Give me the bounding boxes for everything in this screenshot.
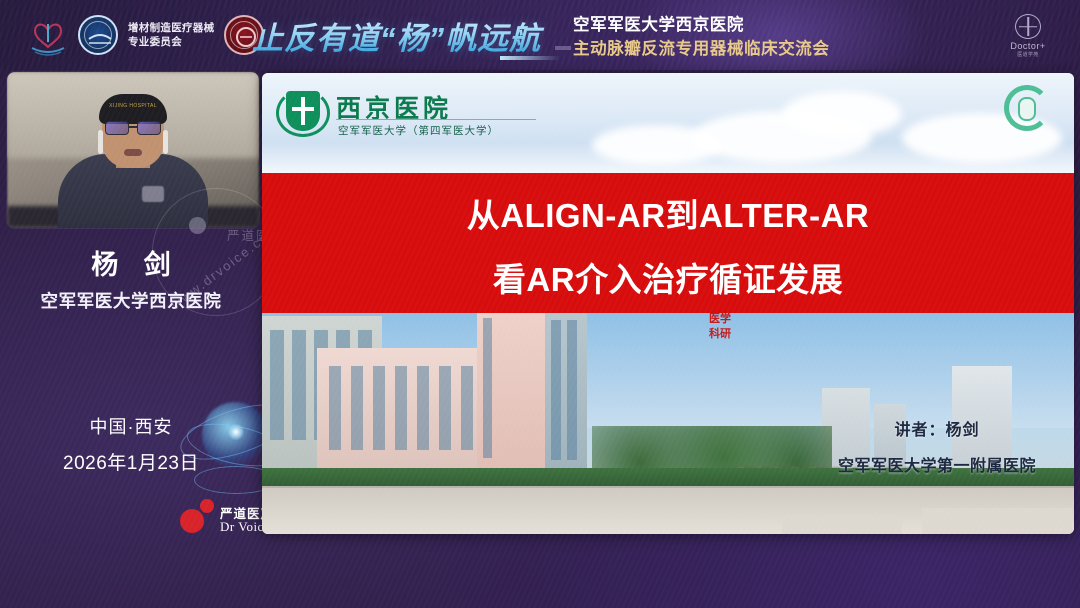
slogan-highlight: 杨 <box>397 21 429 56</box>
slide-credit-org: 空军军医大学第一附属医院 <box>838 452 1036 476</box>
committee-name-line1: 增材制造医疗器械 <box>128 21 214 35</box>
doctor-logo-sub: 医道学苑 <box>1017 51 1039 58</box>
slogan-prefix: 止反有道 <box>252 21 380 56</box>
cap-text: XIJING HOSPITAL <box>109 103 157 109</box>
heart-logo-icon <box>28 14 68 56</box>
campus-photo: 医学科研 讲者：杨剑 空军军医大学第一附属医院 <box>262 313 1074 534</box>
speaker-video-tile[interactable]: XIJING HOSPITAL <box>7 72 259 228</box>
doctor-plus-logo: Doctor+ 医道学苑 <box>1000 14 1056 58</box>
building-tower: 医学科研 <box>477 313 547 476</box>
event-title-line1: 空军军医大学西京医院 <box>573 14 830 38</box>
title-dash <box>555 46 571 50</box>
hospital-subtitle: 空军军医大学（第四军医大学） <box>338 123 499 138</box>
organizer-logos: 增材制造医疗器械 专业委员会 <box>28 13 264 57</box>
slide-title-line2: 看AR介入治疗循证发展 <box>262 253 1074 301</box>
speaker-name: 杨 剑 <box>0 243 262 282</box>
hospital-name-rule <box>336 119 536 120</box>
building-2 <box>317 348 487 476</box>
slogan-suffix: 帆远航 <box>445 21 541 56</box>
drvoice-logo: 严道医声 Dr Voice <box>176 495 272 537</box>
committee-name-line2: 专业委员会 <box>128 35 214 49</box>
green-signal-icon <box>1004 85 1050 131</box>
globe-icon <box>1015 14 1041 39</box>
slide-credit: 讲者：杨剑 空军军医大学第一附属医院 <box>838 416 1036 476</box>
event-title: 空军军医大学西京医院 主动脉瓣反流专用器械临床交流会 <box>573 14 830 62</box>
committee-name: 增材制造医疗器械 专业委员会 <box>128 21 214 49</box>
surgical-cap: XIJING HOSPITAL <box>99 94 167 124</box>
event-location: 中国·西安 <box>0 413 262 439</box>
drvoice-dot-small <box>200 499 214 513</box>
committee-seal-icon <box>78 15 118 55</box>
event-date: 2026年1月23日 <box>0 448 262 475</box>
hospital-emblem-icon <box>276 85 330 143</box>
slogan-quote-close: ” <box>429 21 446 56</box>
slide-credit-speaker: 讲者：杨剑 <box>838 416 1036 440</box>
drvoice-dot-large <box>180 509 204 533</box>
presentation-slide[interactable]: 西京医院 空军军医大学（第四军医大学） 从ALIGN-AR到ALTER-AR 看… <box>262 73 1074 534</box>
doctor-logo-name: Doctor+ <box>1010 41 1045 51</box>
slogan-underline <box>500 56 560 60</box>
speaker-figure: XIJING HOSPITAL <box>58 100 208 228</box>
speaker-badge <box>142 186 164 202</box>
photo-plaza <box>262 488 1074 534</box>
tower-text: 医学科研 <box>709 313 731 342</box>
building-4 <box>545 313 587 476</box>
slogan-quote-open: “ <box>380 21 397 56</box>
slide-title-band: 从ALIGN-AR到ALTER-AR 看AR介入治疗循证发展 <box>262 173 1074 313</box>
event-banner: 增材制造医疗器械 专业委员会 止反有道“杨”帆远航 空军军医大学西京医院 主动脉… <box>0 0 1080 70</box>
slide-title-line1: 从ALIGN-AR到ALTER-AR <box>262 189 1074 237</box>
speaker-mouth <box>124 149 142 156</box>
earphone-left-icon <box>98 130 103 154</box>
presentation-stage: 增材制造医疗器械 专业委员会 止反有道“杨”帆远航 空军军医大学西京医院 主动脉… <box>0 0 1080 608</box>
speaker-organization: 空军军医大学西京医院 <box>0 288 262 313</box>
slide-header: 西京医院 空军军医大学（第四军医大学） <box>262 73 1074 173</box>
earphone-right-icon <box>163 130 168 154</box>
event-title-line2: 主动脉瓣反流专用器械临床交流会 <box>573 38 830 62</box>
glasses-icon <box>105 121 161 136</box>
